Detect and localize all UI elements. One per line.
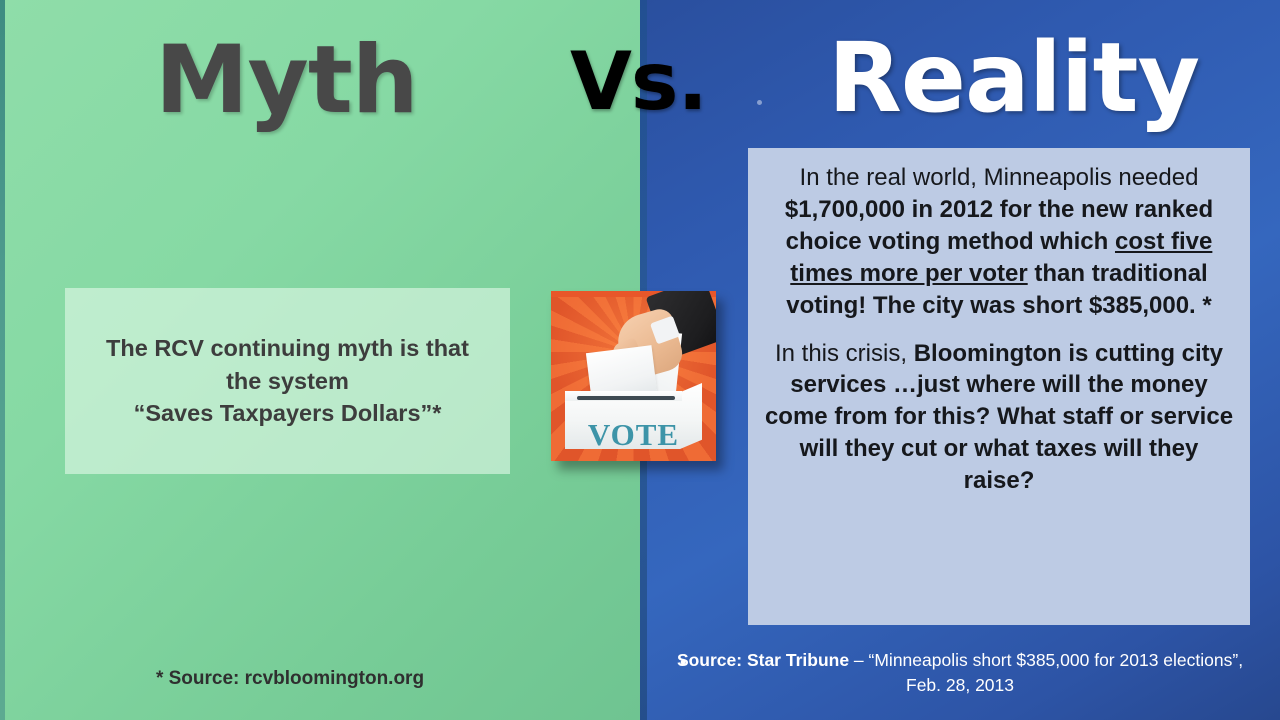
page-title-vs: Vs. (570, 42, 707, 122)
page-title-myth: Myth (155, 34, 418, 128)
reality-statement-box: In the real world, Minneapolis needed $1… (748, 148, 1250, 625)
reality-source-plain: – “Minneapolis short $385,000 for 2013 e… (849, 650, 1243, 695)
myth-statement-box: The RCV continuing myth is that the syst… (65, 288, 510, 474)
vote-label: VOTE (551, 417, 716, 453)
myth-source-citation: * Source: rcvbloomington.org (0, 668, 580, 690)
decorative-dot (757, 100, 762, 105)
bullet-icon: • (680, 651, 686, 675)
slide-canvas: Myth Vs. Reality The RCV continuing myth… (0, 0, 1280, 720)
myth-line-3: “Saves Taxpayers Dollars”* (134, 400, 442, 426)
reality-source-bold: Source: Star Tribune (677, 650, 849, 670)
reality-paragraph-2: In this crisis, Bloomington is cutting c… (764, 338, 1234, 498)
ballot-box-slot (577, 396, 675, 400)
reality-p2-plain-1: In this crisis, (775, 340, 914, 367)
reality-source-citation: •Source: Star Tribune – “Minneapolis sho… (660, 648, 1260, 698)
myth-line-1: The RCV continuing myth is that (106, 335, 469, 361)
vote-ballot-box-image: VOTE (551, 291, 716, 461)
reality-paragraph-1: In the real world, Minneapolis needed $1… (764, 162, 1234, 322)
reality-p1-plain-1: In the real world, Minneapolis needed (800, 164, 1199, 191)
myth-statement-text: The RCV continuing myth is that the syst… (106, 332, 469, 429)
myth-line-2: the system (226, 368, 349, 394)
page-title-reality: Reality (828, 30, 1199, 126)
green-panel-left-edge (0, 0, 5, 720)
